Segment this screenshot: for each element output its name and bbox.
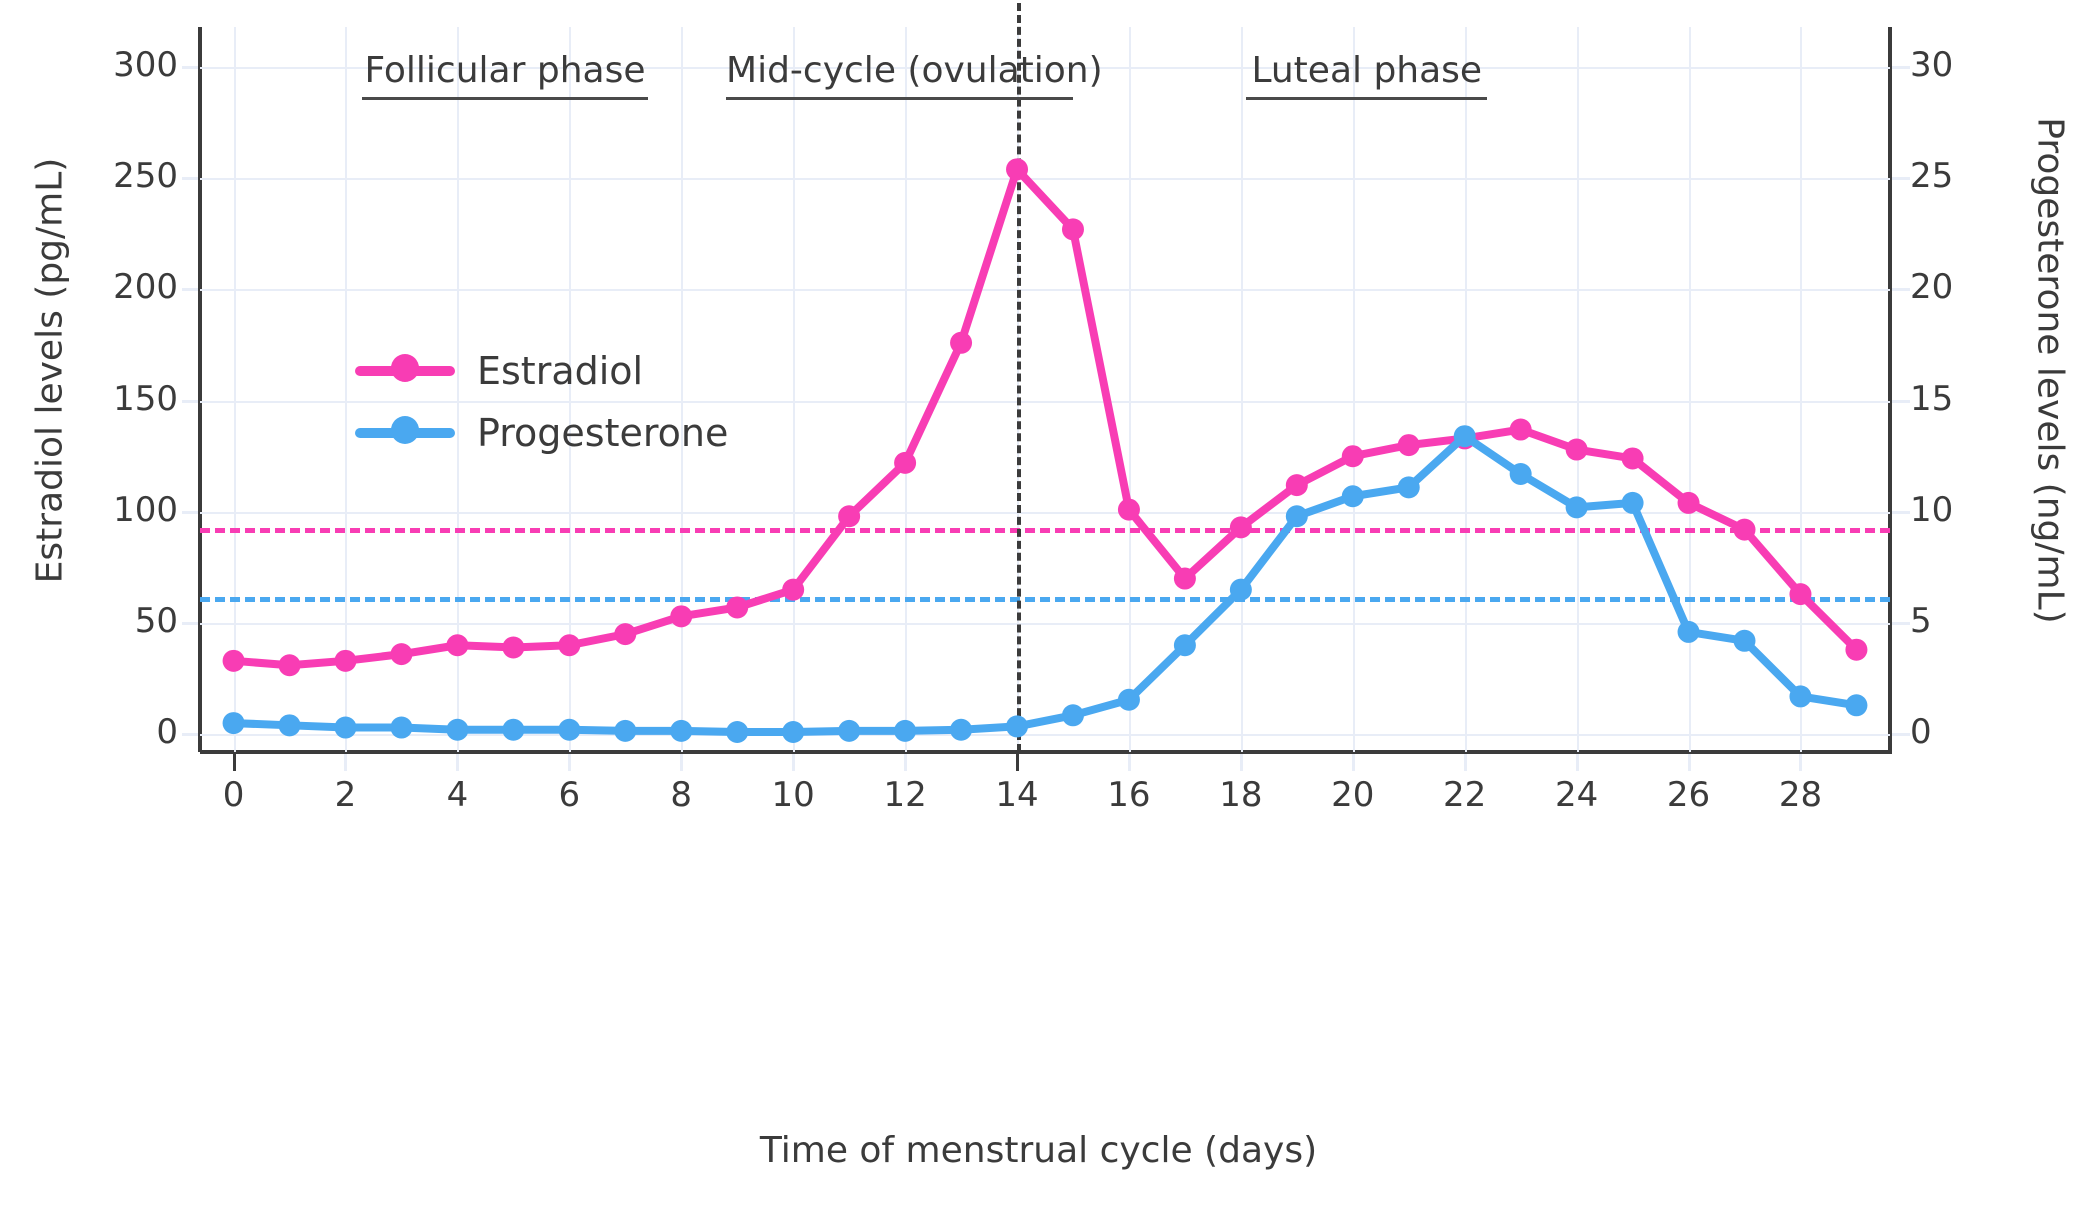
data-point-estradiol[interactable] [1118, 499, 1140, 521]
x-tick-mark [344, 754, 347, 771]
data-point-estradiol[interactable] [782, 579, 804, 601]
follicular-phase: Follicular phase [362, 50, 647, 100]
data-point-progesterone[interactable] [1118, 689, 1140, 711]
y-tick-mark-right [1892, 622, 1910, 625]
data-point-progesterone[interactable] [894, 720, 916, 742]
data-point-progesterone[interactable] [1678, 621, 1700, 643]
data-point-progesterone[interactable] [782, 721, 804, 743]
x-tick-mark [1016, 754, 1019, 771]
luteal-phase-rule [1246, 97, 1487, 100]
data-point-progesterone[interactable] [614, 720, 636, 742]
data-point-estradiol[interactable] [1566, 439, 1588, 461]
legend: Estradiol Progesterone [355, 340, 728, 464]
data-point-progesterone[interactable] [950, 719, 972, 741]
x-tick-label: 22 [1405, 775, 1525, 815]
data-point-progesterone[interactable] [279, 714, 301, 736]
x-tick-mark [233, 754, 236, 771]
x-tick-label: 6 [509, 775, 629, 815]
y-axis-right-title: Progesterone levels (ng/mL) [2030, 21, 2071, 721]
data-point-estradiol[interactable] [390, 643, 412, 665]
x-tick-mark [1799, 754, 1802, 771]
mid-cycle: Mid-cycle (ovulation) [726, 50, 1073, 100]
legend-label-estradiol: Estradiol [477, 349, 643, 393]
chart-canvas: Estradiol levels (pg/mL) Progesterone le… [0, 0, 2077, 1208]
data-point-estradiol[interactable] [726, 596, 748, 618]
data-point-estradiol[interactable] [1510, 419, 1532, 441]
x-tick-mark [904, 754, 907, 771]
data-point-progesterone[interactable] [1566, 496, 1588, 518]
y-tick-right: 30 [1910, 45, 2030, 85]
x-tick-label: 28 [1740, 775, 1860, 815]
x-tick-mark [1576, 754, 1579, 771]
data-point-estradiol[interactable] [894, 452, 916, 474]
data-point-progesterone[interactable] [1230, 579, 1252, 601]
data-point-estradiol[interactable] [1286, 474, 1308, 496]
x-tick-mark [568, 754, 571, 771]
y-tick-right: 20 [1910, 267, 2030, 307]
luteal-phase: Luteal phase [1246, 50, 1487, 100]
data-point-estradiol[interactable] [1678, 492, 1700, 514]
data-point-estradiol[interactable] [558, 634, 580, 656]
data-point-progesterone[interactable] [446, 719, 468, 741]
x-tick-label: 8 [621, 775, 741, 815]
legend-item-estradiol[interactable]: Estradiol [355, 340, 728, 402]
data-point-estradiol[interactable] [334, 650, 356, 672]
y-tick-mark-right [1892, 511, 1910, 514]
data-point-progesterone[interactable] [1342, 485, 1364, 507]
follicular-phase-label: Follicular phase [362, 50, 647, 91]
y-tick-left: 0 [58, 712, 178, 752]
x-tick-mark [1352, 754, 1355, 771]
data-point-progesterone[interactable] [1062, 704, 1084, 726]
data-point-progesterone[interactable] [726, 721, 748, 743]
y-tick-right: 0 [1910, 712, 2030, 752]
x-tick-label: 2 [285, 775, 405, 815]
data-point-estradiol[interactable] [1342, 445, 1364, 467]
x-tick-label: 4 [397, 775, 517, 815]
y-tick-mark-right [1892, 400, 1910, 403]
mid-cycle-label: Mid-cycle (ovulation) [726, 50, 1073, 91]
y-tick-right: 15 [1910, 379, 2030, 419]
data-point-estradiol[interactable] [1230, 516, 1252, 538]
data-point-progesterone[interactable] [1789, 685, 1811, 707]
data-point-estradiol[interactable] [502, 636, 524, 658]
x-tick-mark [792, 754, 795, 771]
x-tick-label: 10 [733, 775, 853, 815]
luteal-phase-label: Luteal phase [1246, 50, 1487, 91]
data-point-progesterone[interactable] [838, 720, 860, 742]
data-point-progesterone[interactable] [1845, 694, 1867, 716]
x-tick-label: 16 [1069, 775, 1189, 815]
y-tick-right: 10 [1910, 490, 2030, 530]
x-tick-label: 14 [957, 775, 1077, 815]
y-tick-left: 100 [58, 490, 178, 530]
follicular-phase-rule [362, 97, 647, 100]
data-point-progesterone[interactable] [1286, 505, 1308, 527]
x-tick-mark [680, 754, 683, 771]
data-point-progesterone[interactable] [1622, 492, 1644, 514]
data-point-estradiol[interactable] [670, 605, 692, 627]
data-point-estradiol[interactable] [1789, 583, 1811, 605]
legend-swatch-progesterone [355, 428, 455, 438]
data-point-estradiol[interactable] [1062, 218, 1084, 240]
y-tick-right: 25 [1910, 156, 2030, 196]
data-point-estradiol[interactable] [1398, 434, 1420, 456]
legend-label-progesterone: Progesterone [477, 411, 728, 455]
y-tick-mark-right [1892, 733, 1910, 736]
data-point-estradiol[interactable] [1845, 639, 1867, 661]
data-point-progesterone[interactable] [558, 719, 580, 741]
data-point-estradiol[interactable] [446, 634, 468, 656]
data-point-progesterone[interactable] [1398, 476, 1420, 498]
data-point-estradiol[interactable] [223, 650, 245, 672]
data-point-progesterone[interactable] [334, 717, 356, 739]
x-tick-mark [1128, 754, 1131, 771]
x-tick-label: 26 [1629, 775, 1749, 815]
legend-swatch-estradiol [355, 366, 455, 376]
x-axis-title: Time of menstrual cycle (days) [0, 1130, 2077, 1171]
y-tick-mark-right [1892, 177, 1910, 180]
y-tick-left: 50 [58, 601, 178, 641]
legend-item-progesterone[interactable]: Progesterone [355, 402, 728, 464]
data-point-estradiol[interactable] [1734, 519, 1756, 541]
data-point-progesterone[interactable] [1006, 715, 1028, 737]
x-tick-mark [1464, 754, 1467, 771]
data-point-progesterone[interactable] [390, 717, 412, 739]
y-tick-mark-right [1892, 288, 1910, 291]
mid-cycle-rule [726, 97, 1073, 100]
y-tick-left: 250 [58, 156, 178, 196]
x-tick-label: 20 [1293, 775, 1413, 815]
data-point-estradiol[interactable] [279, 654, 301, 676]
data-point-progesterone[interactable] [1174, 634, 1196, 656]
data-point-estradiol[interactable] [1174, 568, 1196, 590]
data-point-progesterone[interactable] [502, 719, 524, 741]
y-tick-mark-right [1892, 66, 1910, 69]
x-tick-label: 12 [845, 775, 965, 815]
x-tick-label: 18 [1181, 775, 1301, 815]
data-point-estradiol[interactable] [838, 505, 860, 527]
y-tick-right: 5 [1910, 601, 2030, 641]
x-tick-mark [1240, 754, 1243, 771]
line-progesterone [234, 436, 1857, 732]
data-point-progesterone[interactable] [670, 720, 692, 742]
x-tick-label: 0 [174, 775, 294, 815]
data-point-estradiol[interactable] [1006, 158, 1028, 180]
data-point-progesterone[interactable] [1454, 425, 1476, 447]
data-point-estradiol[interactable] [614, 623, 636, 645]
data-point-progesterone[interactable] [223, 712, 245, 734]
data-point-estradiol[interactable] [950, 332, 972, 354]
data-point-progesterone[interactable] [1734, 630, 1756, 652]
y-tick-left: 150 [58, 379, 178, 419]
x-tick-mark [1688, 754, 1691, 771]
x-tick-mark [456, 754, 459, 771]
y-tick-left: 200 [58, 267, 178, 307]
data-point-progesterone[interactable] [1510, 463, 1532, 485]
x-tick-label: 24 [1517, 775, 1637, 815]
data-point-estradiol[interactable] [1622, 447, 1644, 469]
y-tick-left: 300 [58, 45, 178, 85]
